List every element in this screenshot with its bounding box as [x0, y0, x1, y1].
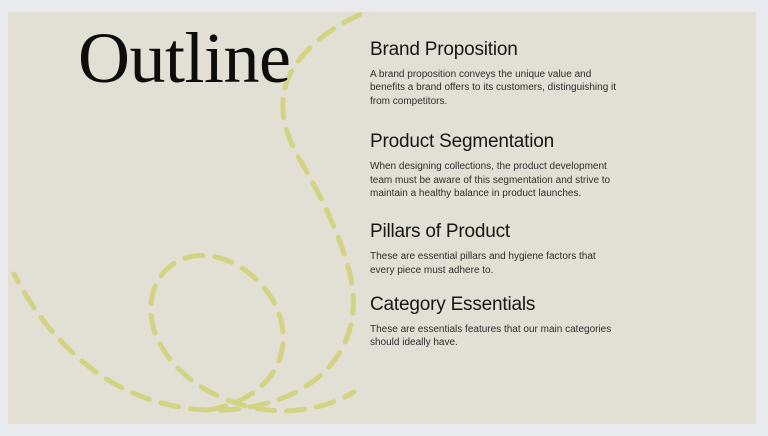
section-heading-brand-proposition: Brand Proposition [370, 38, 660, 61]
outline-section-list: Brand Proposition A brand proposition co… [370, 38, 660, 364]
outline-item-brand-proposition: Brand Proposition A brand proposition co… [370, 38, 660, 108]
section-body-brand-proposition: A brand proposition conveys the unique v… [370, 68, 620, 108]
dashed-curve-path-loop [151, 255, 354, 410]
section-heading-product-segmentation: Product Segmentation [370, 130, 660, 153]
outline-item-product-segmentation: Product Segmentation When designing coll… [370, 130, 660, 200]
section-body-pillars-of-product: These are essential pillars and hygiene … [370, 250, 620, 277]
page-title: Outline [78, 22, 290, 94]
section-body-product-segmentation: When designing collections, the product … [370, 160, 620, 200]
outline-item-category-essentials: Category Essentials These are essentials… [370, 293, 660, 350]
outline-item-pillars-of-product: Pillars of Product These are essential p… [370, 220, 660, 277]
section-body-category-essentials: These are essentials features that our m… [370, 323, 620, 350]
section-heading-pillars-of-product: Pillars of Product [370, 220, 660, 243]
slide-canvas: Outline Brand Proposition A brand propos… [8, 12, 756, 424]
slide-viewport: Outline Brand Proposition A brand propos… [0, 0, 768, 436]
section-heading-category-essentials: Category Essentials [370, 293, 660, 316]
